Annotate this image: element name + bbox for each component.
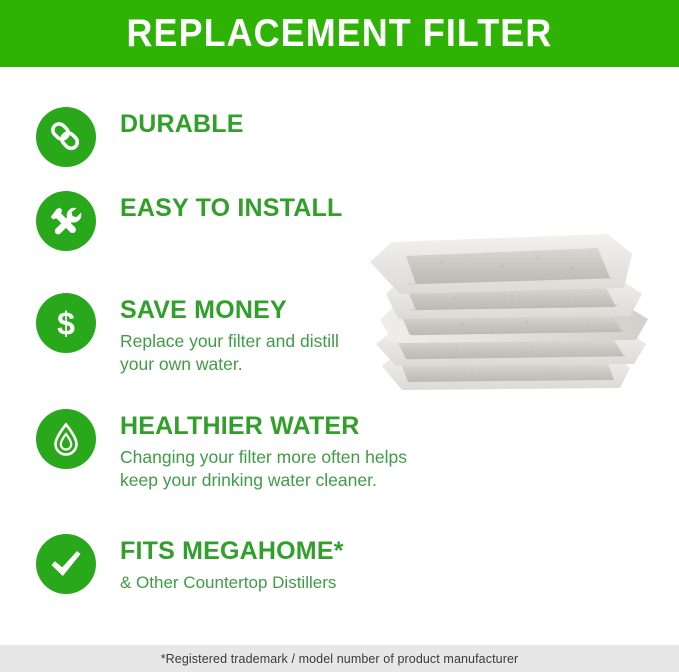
feature-description: & Other Countertop Distillers [120, 572, 344, 594]
page-title: REPLACEMENT FILTER [127, 14, 553, 53]
feature-title: EASY TO INSTALL [120, 195, 342, 223]
water-droplet-icon [36, 409, 96, 469]
feature-title: HEALTHIER WATER [120, 413, 407, 441]
svg-text:$: $ [57, 306, 75, 342]
feature-item-durable: DURABLE [36, 107, 244, 167]
feature-text-block: DURABLE [120, 107, 244, 139]
checkmark-icon [36, 534, 96, 594]
feature-item-save-money: $ SAVE MONEY Replace your filter and dis… [36, 293, 339, 376]
feature-title: FITS MEGAHOME* [120, 538, 344, 566]
feature-item-healthier-water: HEALTHIER WATER Changing your filter mor… [36, 409, 407, 492]
feature-title: DURABLE [120, 111, 244, 139]
infographic-page: REPLACEMENT FILTER DURABLE [0, 0, 679, 672]
feature-description: Replace your filter and distill your own… [120, 330, 339, 376]
header-banner: REPLACEMENT FILTER [0, 0, 679, 67]
feature-text-block: FITS MEGAHOME* & Other Countertop Distil… [120, 534, 344, 594]
feature-text-block: HEALTHIER WATER Changing your filter mor… [120, 409, 407, 492]
wrench-screwdriver-icon [36, 191, 96, 251]
feature-text-block: EASY TO INSTALL [120, 191, 342, 223]
chain-link-icon [36, 107, 96, 167]
feature-item-fits-megahome: FITS MEGAHOME* & Other Countertop Distil… [36, 534, 344, 594]
feature-text-block: SAVE MONEY Replace your filter and disti… [120, 293, 339, 376]
product-image [362, 226, 662, 411]
footer-band: *Registered trademark / model number of … [0, 645, 679, 672]
feature-item-easy-to-install: EASY TO INSTALL [36, 191, 342, 251]
footer-disclaimer: *Registered trademark / model number of … [161, 652, 519, 666]
feature-title: SAVE MONEY [120, 297, 339, 325]
dollar-sign-icon: $ [36, 293, 96, 353]
feature-description: Changing your filter more often helps ke… [120, 446, 407, 492]
